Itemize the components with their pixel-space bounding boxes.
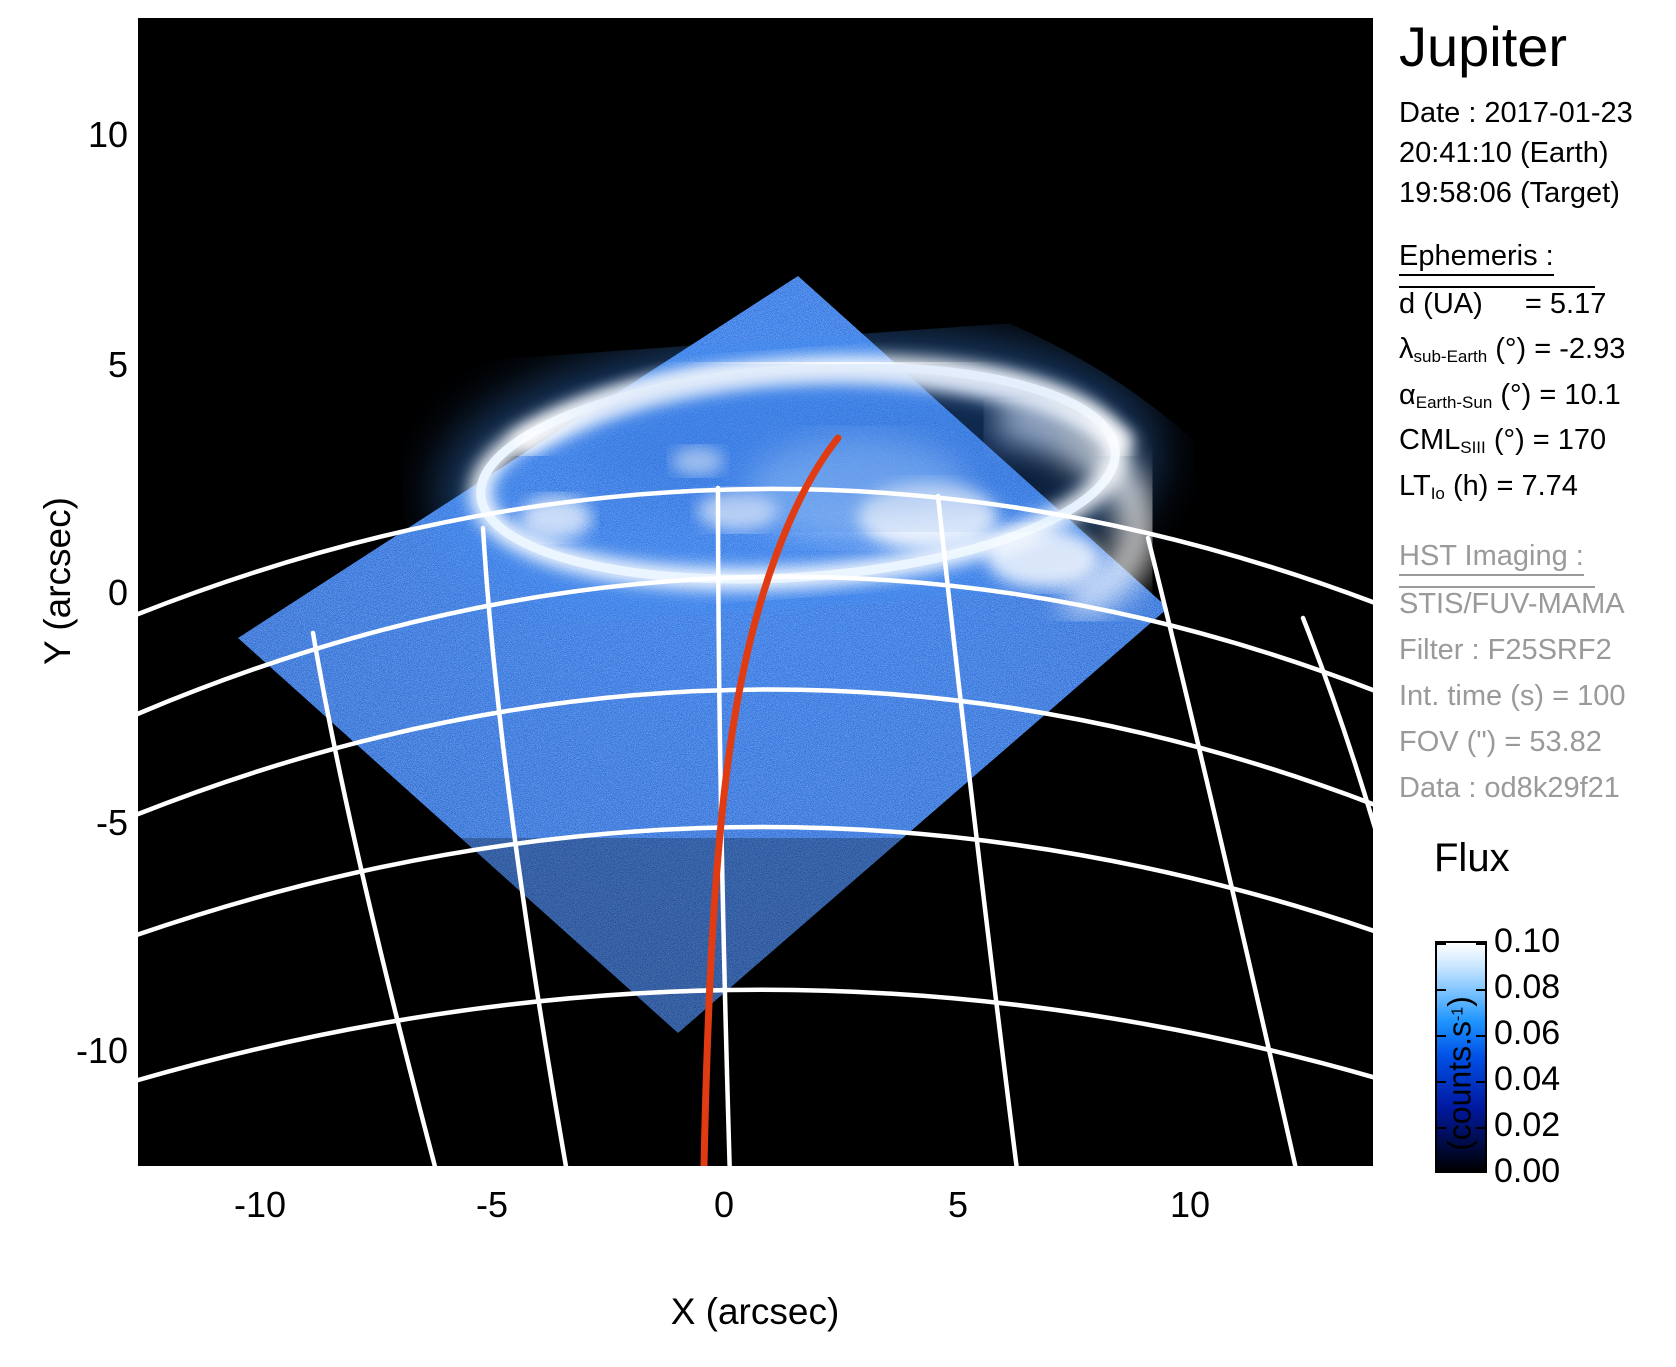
ephemeris-cml: CMLSIII (°) = 170	[1399, 424, 1606, 458]
hst-fov: FOV (") = 53.82	[1399, 726, 1602, 759]
alpha-unit: (°)	[1500, 379, 1531, 411]
y-axis-title: Y (arcsec)	[37, 431, 79, 731]
colorbar-unit-label: (counts.s-1)	[1442, 944, 1479, 1204]
y-axis-tick-minus5: -5	[8, 802, 128, 844]
colorbar-tick-0-02: 0.02	[1494, 1106, 1560, 1145]
y-axis-tick-10: 10	[8, 114, 128, 156]
lambda-value: = -2.93	[1534, 333, 1625, 365]
hst-imaging-heading: HST Imaging :	[1399, 540, 1584, 573]
lt-value: = 7.74	[1496, 470, 1577, 502]
page-title: Jupiter	[1399, 14, 1567, 79]
alpha-subscript: Earth-Sun	[1416, 393, 1493, 412]
ephemeris-distance: d (UA) = 5.17	[1399, 288, 1606, 321]
ephemeris-distance-label: d (UA)	[1399, 288, 1483, 320]
colorbar-tick-0-08: 0.08	[1494, 968, 1560, 1007]
ephemeris-phase-angle: αEarth-Sun (°) = 10.1	[1399, 379, 1621, 413]
cml-subscript: SIII	[1460, 438, 1486, 457]
lambda-symbol: λ	[1399, 333, 1414, 365]
ephemeris-sub-earth-latitude: λsub-Earth (°) = -2.93	[1399, 333, 1625, 367]
x-axis-tick-0: 0	[664, 1184, 784, 1226]
ephemeris-distance-value: = 5.17	[1525, 288, 1606, 320]
colorbar-tick-0-04: 0.04	[1494, 1060, 1560, 1099]
jupiter-fuv-image	[138, 18, 1373, 1166]
x-axis-tick-10: 10	[1130, 1184, 1250, 1226]
ephemeris-io-local-time: LTIo (h) = 7.74	[1399, 470, 1578, 504]
cml-unit: (°)	[1494, 424, 1525, 456]
lambda-subscript: sub-Earth	[1414, 347, 1488, 366]
cml-label: CML	[1399, 424, 1460, 456]
cml-value: = 170	[1533, 424, 1606, 456]
x-axis-title: X (arcsec)	[0, 1291, 1510, 1333]
lt-unit: (h)	[1453, 470, 1488, 502]
colorbar-title: Flux	[1434, 836, 1510, 881]
y-axis-tick-5: 5	[8, 344, 128, 386]
hst-filter: Filter : F25SRF2	[1399, 634, 1612, 667]
lt-label: LT	[1399, 470, 1431, 502]
x-axis-tick-5: 5	[898, 1184, 1018, 1226]
hst-dataset-id: Data : od8k29f21	[1399, 772, 1620, 805]
alpha-symbol: α	[1399, 379, 1416, 411]
colorbar-tick-0-06: 0.06	[1494, 1014, 1560, 1053]
x-axis-tick-minus10: -10	[200, 1184, 320, 1226]
aurora-image-panel	[138, 18, 1373, 1166]
y-axis-tick-minus10: -10	[8, 1030, 128, 1072]
observation-time-earth: 20:41:10 (Earth)	[1399, 137, 1609, 170]
hst-instrument: STIS/FUV-MAMA	[1399, 588, 1625, 621]
x-axis-tick-minus5: -5	[432, 1184, 552, 1226]
observation-time-target: 19:58:06 (Target)	[1399, 177, 1620, 210]
alpha-value: = 10.1	[1539, 379, 1620, 411]
ephemeris-heading: Ephemeris :	[1399, 240, 1554, 273]
hst-integration-time: Int. time (s) = 100	[1399, 680, 1625, 713]
colorbar-tick-0-00: 0.00	[1494, 1152, 1560, 1191]
lt-subscript: Io	[1431, 484, 1445, 503]
observation-date: Date : 2017-01-23	[1399, 97, 1633, 130]
colorbar-tick-0-10: 0.10	[1494, 922, 1560, 961]
lambda-unit: (°)	[1495, 333, 1526, 365]
